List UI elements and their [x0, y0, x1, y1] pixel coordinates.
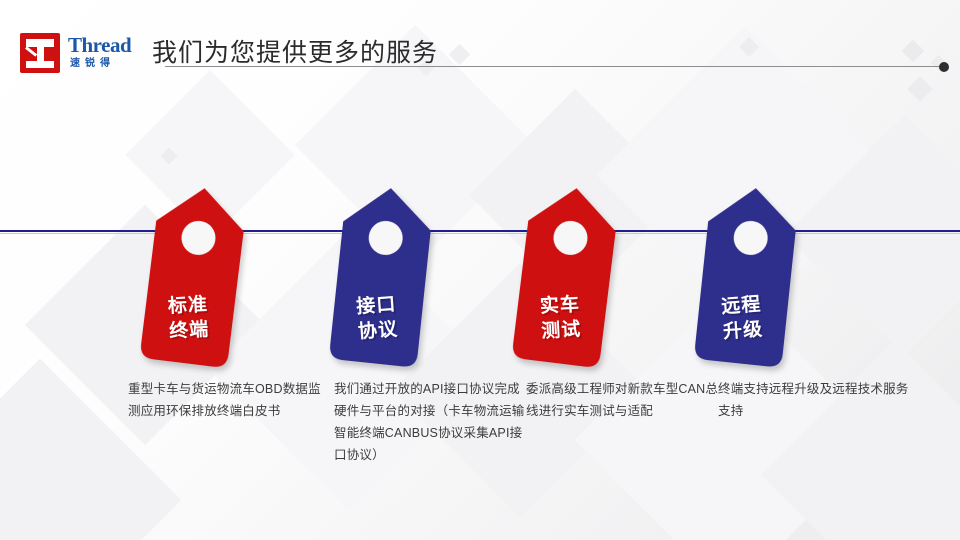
tag-description: 终端支持远程升级及远程技术服务支持	[718, 378, 914, 422]
tag-card-interface-protocol[interactable]: 接口 协议	[325, 181, 439, 370]
tag-description: 委派高级工程师对新款车型CAN总线进行实车测试与适配	[526, 378, 722, 422]
tag-description: 我们通过开放的API接口协议完成硬件与平台的对接（卡车物流运输智能终端CANBU…	[334, 378, 530, 466]
hanging-wire-shadow	[0, 233, 960, 234]
tag-label: 标准 终端	[139, 291, 237, 346]
tag-label: 接口 协议	[328, 290, 427, 347]
tag-description: 重型卡车与货运物流车OBD数据监测应用环保排放终端白皮书	[128, 378, 324, 422]
tag-card-real-vehicle-test[interactable]: 实车 测试	[507, 180, 624, 370]
hanging-wire	[0, 230, 960, 232]
slide-canvas: Thread 速锐得 我们为您提供更多的服务 标准 终端	[0, 0, 960, 540]
tag-card-remote-upgrade[interactable]: 远程 升级	[690, 181, 804, 370]
tag-card-standard-terminal[interactable]: 标准 终端	[135, 180, 252, 370]
tag-label: 实车 测试	[511, 291, 609, 346]
tag-label: 远程 升级	[693, 290, 792, 347]
